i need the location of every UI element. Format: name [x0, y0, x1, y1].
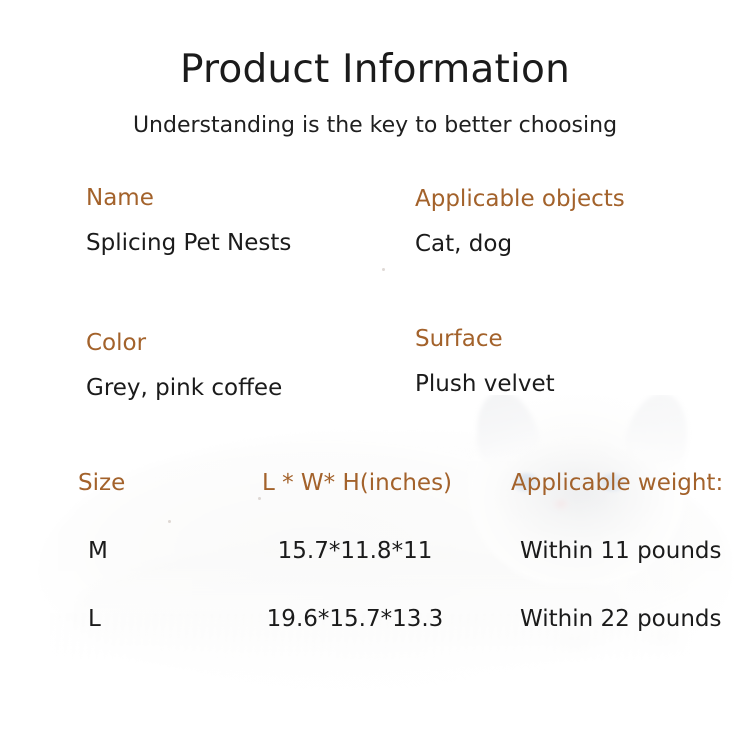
spec-field-name: Name Splicing Pet Nests: [86, 185, 291, 256]
spec-field-color: Color Grey, pink coffee: [86, 330, 282, 401]
size-table-header-dimensions: L * W* H(inches): [225, 470, 485, 496]
size-cell-size: L: [60, 606, 225, 632]
page-title: Product Information: [0, 47, 750, 92]
product-information-poster: Product Information Understanding is the…: [0, 0, 750, 750]
size-table-header-weight: Applicable weight:: [485, 470, 740, 496]
table-row: L 19.6*15.7*13.3 Within 22 pounds: [60, 606, 740, 674]
spec-label-color: Color: [86, 330, 282, 356]
size-table: Size L * W* H(inches) Applicable weight:…: [60, 470, 740, 674]
table-row: M 15.7*11.8*11 Within 11 pounds: [60, 538, 740, 606]
size-table-header-size: Size: [60, 470, 225, 496]
size-cell-weight: Within 11 pounds: [485, 538, 740, 564]
spec-label-name: Name: [86, 185, 291, 211]
poster-content: Product Information Understanding is the…: [0, 0, 750, 750]
spec-value-applicable-objects: Cat, dog: [415, 231, 625, 257]
spec-field-surface: Surface Plush velvet: [415, 326, 555, 397]
spec-label-surface: Surface: [415, 326, 555, 352]
spec-value-color: Grey, pink coffee: [86, 375, 282, 401]
page-subtitle: Understanding is the key to better choos…: [0, 113, 750, 138]
size-cell-dimensions: 15.7*11.8*11: [225, 538, 485, 564]
size-table-header-row: Size L * W* H(inches) Applicable weight:: [60, 470, 740, 538]
spec-field-applicable-objects: Applicable objects Cat, dog: [415, 186, 625, 257]
spec-label-applicable-objects: Applicable objects: [415, 186, 625, 212]
size-cell-weight: Within 22 pounds: [485, 606, 740, 632]
spec-value-name: Splicing Pet Nests: [86, 230, 291, 256]
size-cell-dimensions: 19.6*15.7*13.3: [225, 606, 485, 632]
spec-value-surface: Plush velvet: [415, 371, 555, 397]
size-cell-size: M: [60, 538, 225, 564]
